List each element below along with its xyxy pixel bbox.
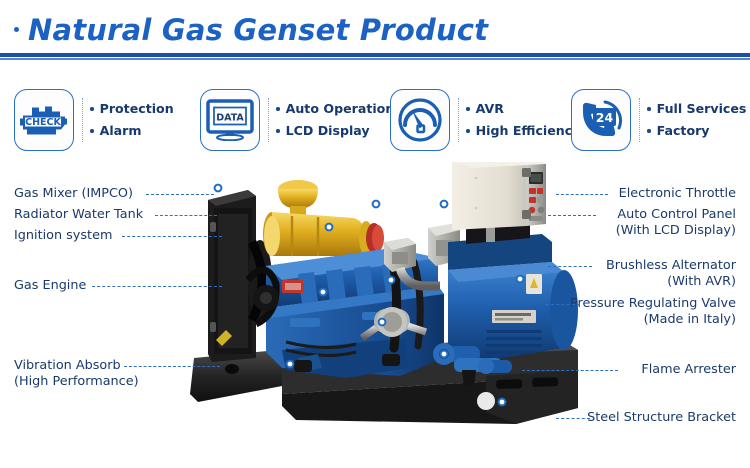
feature-label: Protection [100, 103, 174, 116]
leader-steel-structure-bracket [556, 418, 590, 419]
header-rule-thick [0, 53, 750, 57]
callout-electronic-throttle: Electronic Throttle [619, 186, 736, 202]
title-row: Natural Gas Genset Product [14, 16, 488, 45]
feature-divider [268, 98, 269, 142]
callout-sublabel: (With LCD Display) [616, 223, 736, 239]
feature-item-auto-operation: DATA Auto Operation LCD Display [200, 78, 394, 162]
leader-auto-control-panel [548, 215, 596, 216]
genset-diagram: Gas Mixer (IMPCO) Radiator Water Tank Ig… [0, 162, 750, 468]
phone-24-support-icon: 24 [576, 97, 626, 143]
feature-label-group: Protection Alarm [90, 103, 174, 137]
feature-label: LCD Display [286, 125, 370, 138]
feature-label: High Efficiency [476, 125, 581, 138]
gas-mixer-part [263, 180, 384, 256]
natural-gas-generator-set-photo [186, 162, 586, 452]
bullet-dot-icon [647, 107, 651, 111]
feature-label: Full Services [657, 103, 747, 116]
callout-pressure-regulating-valve: Pressure Regulating Valve (Made in Italy… [570, 296, 736, 327]
leader-gas-engine [92, 286, 222, 287]
leader-brushless-alternator [548, 266, 592, 267]
phone-24-support-icon-text: 24 [596, 110, 614, 125]
callout-label: Electronic Throttle [619, 186, 736, 201]
feature-label-group: Auto Operation LCD Display [276, 103, 394, 137]
feature-label: Auto Operation [286, 103, 395, 116]
feature-label-group: AVR High Efficiency [466, 103, 580, 137]
callout-label: Pressure Regulating Valve [570, 296, 736, 311]
callout-vibration-absorb: Vibration Absorb (High Performance) [14, 358, 139, 389]
gas-engine-part [248, 248, 444, 378]
bullet-dot-icon [14, 27, 19, 32]
leader-radiator-water-tank [155, 215, 217, 216]
check-engine-icon-text: CHECK [25, 117, 61, 128]
header: Natural Gas Genset Product [0, 0, 750, 68]
callout-label: Auto Control Panel [617, 207, 736, 222]
callout-steel-structure-bracket: Steel Structure Bracket [587, 410, 736, 426]
leader-electronic-throttle [556, 194, 608, 195]
feature-item-full-services: 24 Full Services Factory [571, 78, 746, 162]
callout-label: Ignition system [14, 228, 112, 243]
callout-radiator-water-tank: Radiator Water Tank [14, 207, 143, 223]
bullet-dot-icon [90, 129, 94, 133]
feature-label: AVR [476, 103, 504, 116]
feature-label-row: LCD Display [276, 125, 394, 138]
callout-brushless-alternator: Brushless Alternator (With AVR) [606, 258, 736, 289]
feature-icon-box [390, 89, 450, 151]
callout-gas-engine: Gas Engine [14, 278, 86, 294]
callout-gas-mixer: Gas Mixer (IMPCO) [14, 186, 133, 202]
callout-sublabel: (Made in Italy) [570, 312, 736, 328]
feature-item-avr: AVR High Efficiency [390, 78, 580, 162]
header-rule-thin [0, 58, 750, 60]
callout-label: Flame Arrester [641, 362, 736, 377]
radiator-water-tank-part [208, 190, 272, 362]
feature-label-row: Alarm [90, 125, 174, 138]
monitor-display-icon: DATA [206, 99, 254, 141]
flame-arrester-part [478, 358, 512, 374]
callout-sublabel: (With AVR) [606, 274, 736, 290]
callout-label: Gas Engine [14, 278, 86, 293]
feature-strip: CHECK Protection Alarm [0, 78, 750, 162]
callout-label: Vibration Absorb [14, 358, 121, 373]
leader-flame-arrester [522, 370, 618, 371]
leader-pressure-regulating-valve [546, 304, 580, 305]
callout-ignition-system: Ignition system [14, 228, 112, 244]
feature-item-protection-alarm: CHECK Protection Alarm [14, 78, 174, 162]
bullet-dot-icon [466, 129, 470, 133]
feature-label-group: Full Services Factory [647, 103, 746, 137]
page-title: Natural Gas Genset Product [28, 16, 488, 45]
feature-icon-box: CHECK [14, 89, 74, 151]
callout-flame-arrester: Flame Arrester [641, 362, 736, 378]
bullet-dot-icon [647, 129, 651, 133]
callout-label: Steel Structure Bracket [587, 410, 736, 425]
bullet-dot-icon [466, 107, 470, 111]
leader-ignition-system [122, 236, 222, 237]
bullet-dot-icon [90, 107, 94, 111]
feature-label: Factory [657, 125, 710, 138]
leader-gas-mixer [146, 194, 214, 195]
feature-label-row: Auto Operation [276, 103, 394, 116]
bullet-dot-icon [276, 129, 280, 133]
monitor-display-icon-text: DATA [216, 113, 244, 124]
callout-sublabel: (High Performance) [14, 374, 139, 390]
callout-auto-control-panel: Auto Control Panel (With LCD Display) [616, 207, 736, 238]
callout-label: Gas Mixer (IMPCO) [14, 186, 133, 201]
feature-label-row: Full Services [647, 103, 746, 116]
leader-vibration-absorb [124, 366, 220, 367]
feature-label-row: High Efficiency [466, 125, 580, 138]
product-infographic: Natural Gas Genset Product CHECK P [0, 0, 750, 468]
feature-divider [639, 98, 640, 142]
feature-label-row: AVR [466, 103, 580, 116]
feature-label-row: Protection [90, 103, 174, 116]
feature-label: Alarm [100, 125, 142, 138]
callout-label: Brushless Alternator [606, 258, 736, 273]
bullet-dot-icon [276, 107, 280, 111]
feature-divider [458, 98, 459, 142]
feature-icon-box: 24 [571, 89, 631, 151]
gauge-meter-icon [397, 97, 443, 143]
callout-label: Radiator Water Tank [14, 207, 143, 222]
check-engine-icon: CHECK [19, 100, 69, 140]
feature-divider [82, 98, 83, 142]
feature-label-row: Factory [647, 125, 746, 138]
feature-icon-box: DATA [200, 89, 260, 151]
